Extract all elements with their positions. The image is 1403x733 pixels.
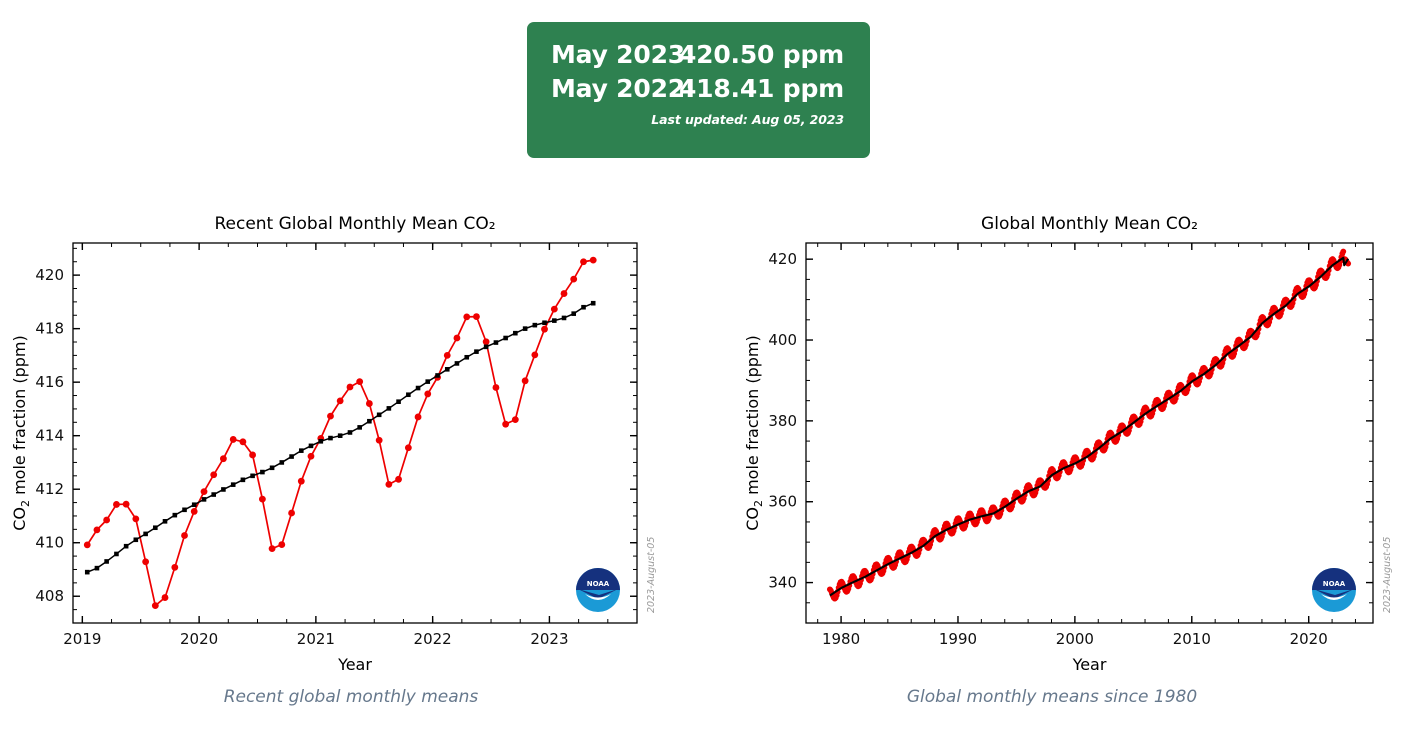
chart-panel-since-1980: Global Monthly Mean CO₂19801990200020102… (701, 205, 1403, 733)
svg-text:NOAA: NOAA (587, 580, 610, 588)
y-axis-label: CO2 mole fraction (ppm) (10, 335, 32, 531)
y-tick-label: 380 (768, 412, 797, 430)
y-tick-label: 410 (35, 534, 64, 552)
global-monthly-mean-co2-chart: Global Monthly Mean CO₂19801990200020102… (701, 205, 1403, 685)
series-monthly-mean (827, 249, 1351, 602)
x-tick-label: 1990 (939, 630, 977, 648)
y-tick-label: 340 (768, 574, 797, 592)
x-tick-label: 2010 (1173, 630, 1211, 648)
chart-title: Global Monthly Mean CO₂ (981, 214, 1198, 234)
summary-value-may-2022: 418.41 ppm (673, 72, 846, 106)
y-tick-label: 412 (35, 480, 64, 498)
noaa-logo-icon: NOAA (576, 568, 620, 612)
x-axis-label: Year (337, 655, 372, 674)
summary-row: May 2022: 418.41 ppm (551, 72, 846, 106)
summary-label-may-2023: May 2023: (551, 38, 673, 72)
y-tick-label: 420 (768, 250, 797, 268)
y-tick-label: 420 (35, 266, 64, 284)
y-tick-label: 418 (35, 320, 64, 338)
y-tick-label: 400 (768, 331, 797, 349)
x-axis-label: Year (1072, 655, 1107, 674)
x-tick-label: 2020 (1290, 630, 1328, 648)
data-series-group (84, 257, 597, 609)
chart-caption-recent: Recent global monthly means (0, 687, 702, 707)
y-tick-label: 414 (35, 427, 64, 445)
x-tick-label: 2019 (63, 630, 101, 648)
y-tick-label: 408 (35, 587, 64, 605)
x-tick-label: 2021 (297, 630, 335, 648)
x-tick-label: 2022 (414, 630, 452, 648)
date-watermark: 2023-August-05 (646, 537, 657, 613)
summary-row: May 2023: 420.50 ppm (551, 38, 846, 72)
series-trend (85, 301, 596, 575)
x-tick-label: 2020 (180, 630, 218, 648)
data-series-group (827, 249, 1351, 602)
chart-panel-recent: Recent Global Monthly Mean CO₂2019202020… (0, 205, 702, 733)
co2-summary-box: May 2023: 420.50 ppm May 2022: 418.41 pp… (527, 22, 870, 158)
plot-frame (73, 243, 637, 623)
chart-caption-since-1980: Global monthly means since 1980 (701, 687, 1403, 707)
series-monthly-mean (84, 257, 597, 609)
y-tick-label: 360 (768, 493, 797, 511)
y-tick-label: 416 (35, 373, 64, 391)
y-axis-label: CO2 mole fraction (ppm) (743, 335, 765, 531)
axis-ticks (73, 243, 637, 623)
x-tick-label: 2023 (530, 630, 568, 648)
x-tick-label: 2000 (1056, 630, 1094, 648)
last-updated-text: Last updated: Aug 05, 2023 (551, 112, 846, 127)
chart-title: Recent Global Monthly Mean CO₂ (214, 214, 495, 234)
summary-value-may-2023: 420.50 ppm (673, 38, 846, 72)
noaa-logo-icon: NOAA (1312, 568, 1356, 612)
x-tick-label: 1980 (822, 630, 860, 648)
recent-global-monthly-mean-co2-chart: Recent Global Monthly Mean CO₂2019202020… (0, 205, 702, 685)
summary-label-may-2022: May 2022: (551, 72, 673, 106)
date-watermark: 2023-August-05 (1382, 537, 1393, 613)
svg-text:NOAA: NOAA (1323, 580, 1346, 588)
